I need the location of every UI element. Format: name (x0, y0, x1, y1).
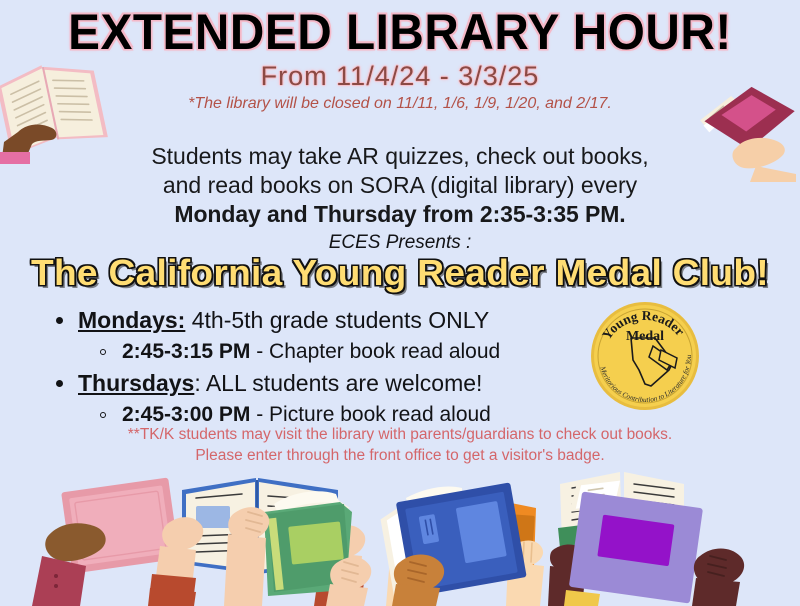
medal-top-line-2: Medal (626, 329, 664, 344)
book-illustration-purple (559, 470, 744, 606)
book-illustration-green (224, 491, 371, 606)
schedule-sub-detail: - Picture book read aloud (250, 403, 490, 426)
list-item: Mondays: 4th-5th grade students ONLY (36, 304, 636, 336)
footnote-line-1: **TK/K students may visit the library wi… (0, 424, 800, 445)
closure-note: *The library will be closed on 11/11, 1/… (0, 94, 800, 114)
page-title: EXTENDED LIBRARY HOUR! (0, 4, 800, 60)
list-item: Thursdays: ALL students are welcome! (36, 367, 636, 399)
schedule-day-label: Thursdays (78, 370, 194, 396)
body-line-3-hours: Monday and Thursday from 2:35-3:35 PM. (0, 200, 800, 229)
schedule-day-label: Mondays: (78, 307, 185, 333)
hands-holding-books-illustration-right (0, 464, 800, 606)
list-item: 2:45-3:15 PM - Chapter book read aloud (36, 336, 636, 367)
body-line-1: Students may take AR quizzes, check out … (0, 142, 800, 171)
poster-canvas: EXTENDED LIBRARY HOUR! From 11/4/24 - 3/… (0, 0, 800, 606)
schedule-sub-detail: - Chapter book read aloud (250, 340, 500, 363)
schedule-sub-time: 2:45-3:15 PM (122, 340, 250, 363)
club-name-heading: The California Young Reader Medal Club! (0, 252, 800, 294)
body-paragraph: Students may take AR quizzes, check out … (0, 142, 800, 229)
schedule-list: Mondays: 4th-5th grade students ONLY 2:4… (36, 304, 636, 430)
schedule-sub-time: 2:45-3:00 PM (122, 403, 250, 426)
body-line-2: and read books on SORA (digital library)… (0, 171, 800, 200)
footnote-line-2: Please enter through the front office to… (0, 445, 800, 466)
footnote: **TK/K students may visit the library wi… (0, 424, 800, 466)
presenter-label: ECES Presents : (0, 232, 800, 254)
schedule-day-detail: : ALL students are welcome! (194, 370, 482, 396)
young-reader-medal-seal-icon: Young Reader Medal Meritorious Contribut… (589, 300, 701, 412)
schedule-day-detail: 4th-5th grade students ONLY (185, 307, 489, 333)
book-illustration-blue (378, 482, 529, 606)
date-range: From 11/4/24 - 3/3/25 (0, 60, 800, 92)
